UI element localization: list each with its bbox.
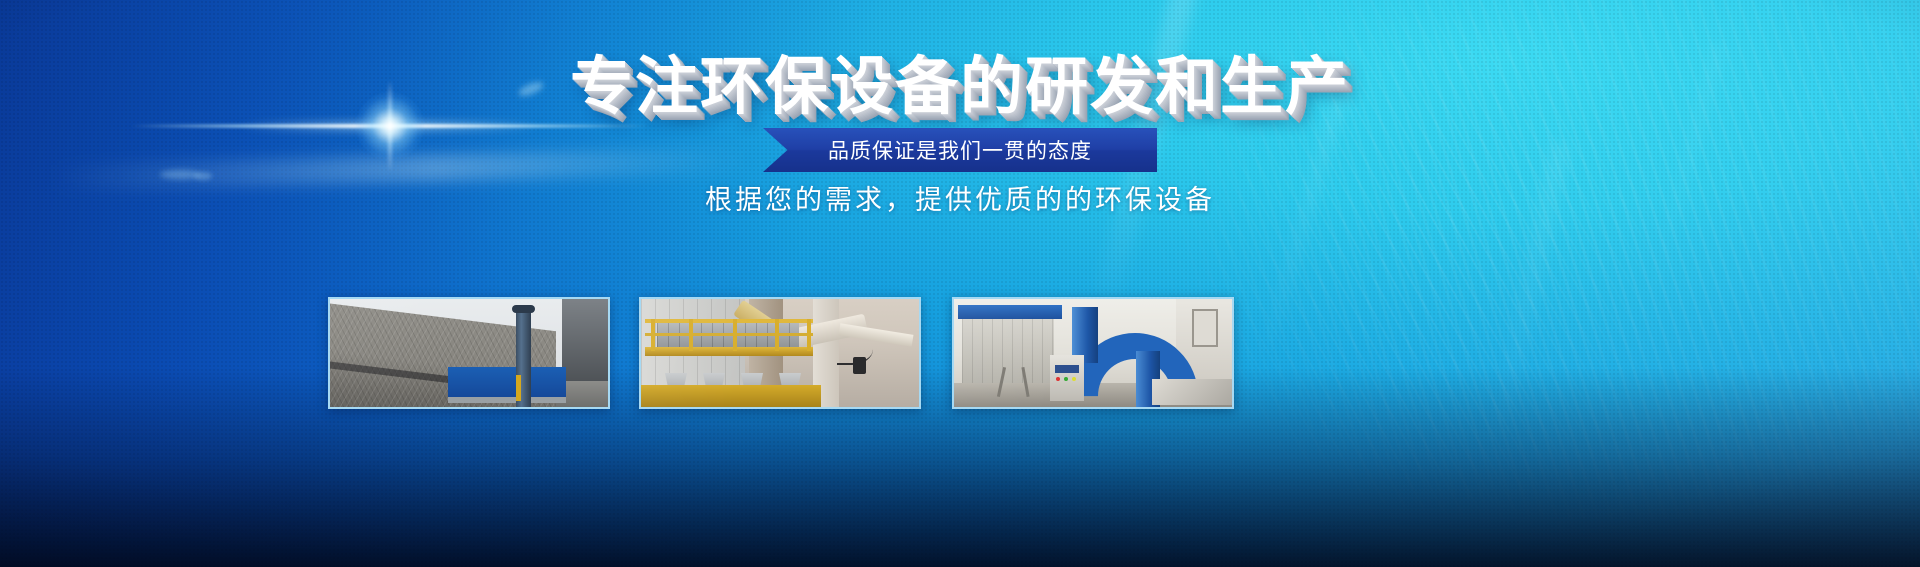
photo-thumbnail-1[interactable]: [328, 297, 610, 409]
blue-equipment: [448, 367, 566, 397]
blue-top-housing: [958, 305, 1062, 319]
indicator-light-red: [1056, 377, 1060, 381]
walkway-platform: [645, 347, 813, 356]
photo-1-content: [330, 299, 608, 407]
exhaust-stack-cap: [512, 305, 535, 313]
rail-post-1: [651, 319, 655, 351]
photo-thumbnail-3[interactable]: [952, 297, 1234, 409]
wall-control-box: [853, 357, 866, 374]
filter-tank-panels: [962, 315, 1054, 383]
banner-badge: 品质保证是我们一贯的态度: [0, 128, 1920, 172]
metal-slab: [1152, 379, 1232, 405]
photo-3-content: [954, 299, 1232, 407]
handrail-mid: [645, 333, 813, 336]
photo-thumbnail-2[interactable]: [639, 297, 921, 409]
indicator-light-yellow: [1072, 377, 1076, 381]
lower-yellow-frame: [641, 385, 821, 407]
handrail-top: [645, 319, 813, 323]
indicator-light-green: [1064, 377, 1068, 381]
rail-post-3: [733, 319, 737, 351]
promo-banner: 专注环保设备的研发和生产 品质保证是我们一贯的态度 根据您的需求，提供优质的的环…: [0, 0, 1920, 567]
photo-2-content: [641, 299, 919, 407]
wall-door: [1192, 309, 1218, 347]
photo-strip: [0, 297, 1920, 411]
rail-post-4: [775, 319, 779, 351]
control-cabinet-screen: [1055, 365, 1079, 373]
banner-headline: 专注环保设备的研发和生产: [0, 56, 1920, 119]
badge-label: 品质保证是我们一贯的态度: [0, 128, 1920, 172]
yellow-ladder: [516, 375, 521, 401]
rail-post-2: [689, 319, 693, 351]
banner-subline: 根据您的需求，提供优质的的环保设备: [0, 178, 1920, 217]
rail-post-5: [807, 319, 811, 351]
